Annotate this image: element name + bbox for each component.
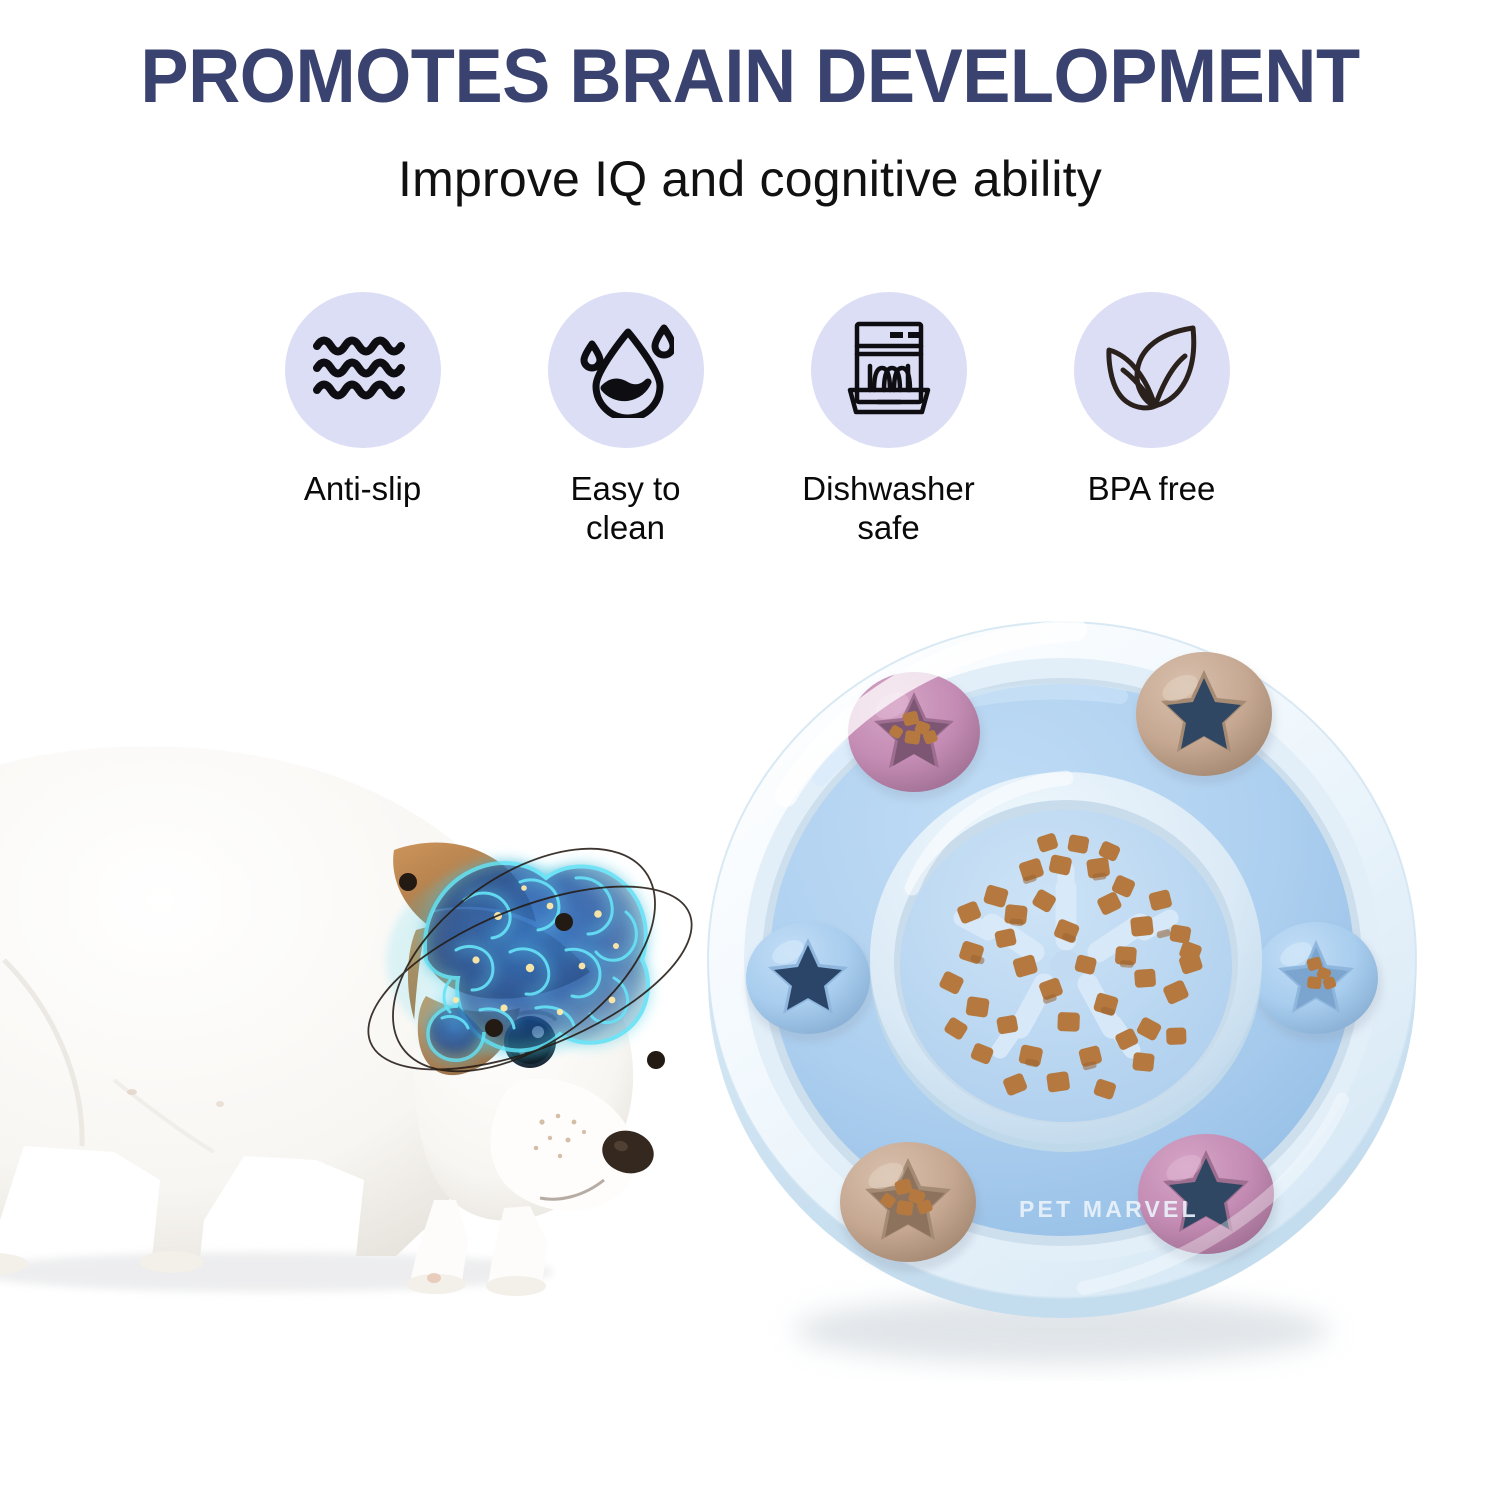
header: PROMOTES BRAIN DEVELOPMENT Improve IQ an… — [0, 0, 1500, 208]
feature-label-dishwasher-safe: Dishwasher safe — [802, 470, 974, 548]
water-droplet-icon — [578, 318, 674, 423]
feature-bpa-free: BPA free — [1067, 292, 1237, 548]
puppy-svg — [0, 660, 744, 1320]
product-bowl: PET MARVEL — [700, 588, 1430, 1388]
feature-icon-background — [1074, 292, 1230, 448]
page-title: PROMOTES BRAIN DEVELOPMENT — [38, 38, 1463, 116]
wavy-lines-icon — [311, 329, 415, 412]
bowl-svg — [700, 588, 1430, 1388]
page-subtitle: Improve IQ and cognitive ability — [0, 150, 1500, 208]
knob-top-right[interactable] — [1136, 652, 1276, 784]
puppy-ground-shadow — [0, 1252, 554, 1292]
feature-icon-background — [285, 292, 441, 448]
feature-badges: Anti-slip Easy to clean — [0, 292, 1500, 548]
puppy-illustration — [0, 660, 744, 1320]
feature-icon-background — [811, 292, 967, 448]
center-bowl — [870, 772, 1262, 1152]
feature-label-bpa-free: BPA free — [1088, 470, 1216, 509]
feature-label-anti-slip: Anti-slip — [304, 470, 421, 509]
feature-icon-background — [548, 292, 704, 448]
feature-easy-to-clean: Easy to clean — [541, 292, 711, 548]
feature-label-easy-to-clean: Easy to clean — [570, 470, 680, 548]
dishwasher-icon — [840, 318, 938, 423]
feature-anti-slip: Anti-slip — [278, 292, 448, 548]
feature-dishwasher-safe: Dishwasher safe — [804, 292, 974, 548]
leaves-icon — [1101, 322, 1203, 419]
